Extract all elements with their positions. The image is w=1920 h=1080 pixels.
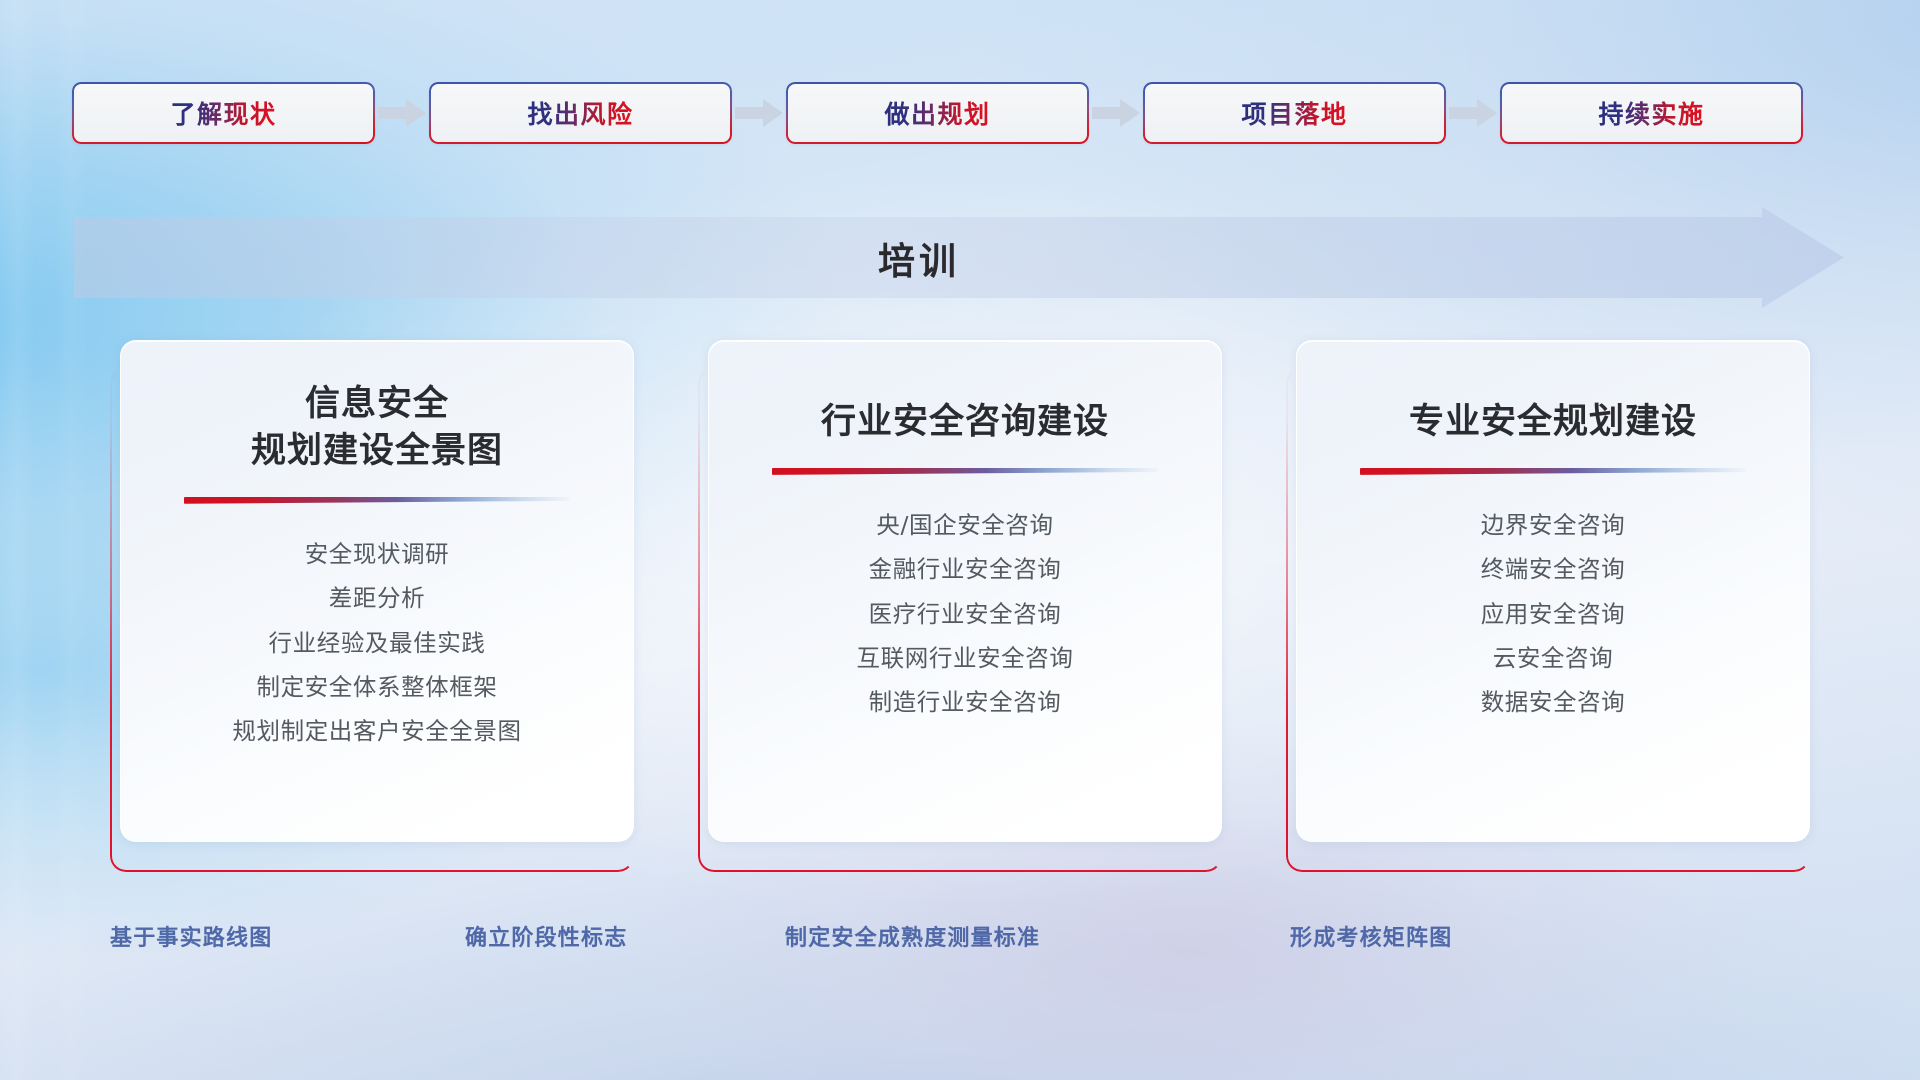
card-professional-planning-body: 专业安全规划建设 边界安全咨询 终端安全咨询 应用安全咨询 云安全咨询 数据安全… <box>1296 340 1810 842</box>
card-panorama-list: 安全现状调研 差距分析 行业经验及最佳实践 制定安全体系整体框架 规划制定出客户… <box>232 538 521 749</box>
list-item: 云安全咨询 <box>1493 642 1614 675</box>
process-step-5[interactable]: 持续实施 <box>1500 82 1803 144</box>
list-item: 金融行业安全咨询 <box>869 553 1062 586</box>
card-industry-consulting-list: 央/国企安全咨询 金融行业安全咨询 医疗行业安全咨询 互联网行业安全咨询 制造行… <box>857 509 1074 720</box>
list-item: 规划制定出客户安全全景图 <box>232 715 521 748</box>
list-item: 央/国企安全咨询 <box>876 509 1053 542</box>
process-step-4-label: 项目落地 <box>1241 95 1347 131</box>
arrow-right-icon <box>735 99 783 127</box>
list-item: 边界安全咨询 <box>1481 509 1626 542</box>
process-connector-1 <box>375 98 429 128</box>
process-step-3[interactable]: 做出规划 <box>786 82 1089 144</box>
footnote-row: 基于事实路线图 确立阶段性标志 制定安全成熟度测量标准 形成考核矩阵图 <box>0 920 1920 968</box>
process-step-5-label: 持续实施 <box>1598 95 1704 131</box>
footnote-4: 形成考核矩阵图 <box>1290 920 1452 952</box>
card-professional-planning-divider <box>1360 468 1746 475</box>
arrow-right-icon <box>1092 99 1140 127</box>
footnote-1: 基于事实路线图 <box>110 920 272 952</box>
process-step-2-label: 找出风险 <box>527 95 633 131</box>
list-item: 终端安全咨询 <box>1481 553 1626 586</box>
process-step-1[interactable]: 了解现状 <box>72 82 375 144</box>
card-row: 信息安全 规划建设全景图 安全现状调研 差距分析 行业经验及最佳实践 制定安全体… <box>110 340 1810 872</box>
process-step-1-label: 了解现状 <box>170 95 276 131</box>
slide-canvas: 了解现状 找出风险 做出规划 项目落地 <box>0 0 1920 1080</box>
arrow-right-icon <box>1449 99 1497 127</box>
training-band-label: 培训 <box>74 207 1764 308</box>
card-panorama-divider <box>184 497 570 504</box>
list-item: 制造行业安全咨询 <box>869 686 1062 719</box>
process-step-row: 了解现状 找出风险 做出规划 项目落地 <box>72 82 1848 144</box>
card-panorama-body: 信息安全 规划建设全景图 安全现状调研 差距分析 行业经验及最佳实践 制定安全体… <box>120 340 634 842</box>
card-industry-consulting-body: 行业安全咨询建设 央/国企安全咨询 金融行业安全咨询 医疗行业安全咨询 互联网行… <box>708 340 1222 842</box>
process-step-4[interactable]: 项目落地 <box>1143 82 1446 144</box>
card-professional-planning[interactable]: 专业安全规划建设 边界安全咨询 终端安全咨询 应用安全咨询 云安全咨询 数据安全… <box>1286 340 1810 872</box>
process-step-2[interactable]: 找出风险 <box>429 82 732 144</box>
process-connector-4 <box>1446 98 1500 128</box>
card-panorama[interactable]: 信息安全 规划建设全景图 安全现状调研 差距分析 行业经验及最佳实践 制定安全体… <box>110 340 634 872</box>
process-step-3-label: 做出规划 <box>884 95 990 131</box>
card-industry-consulting-divider <box>772 468 1158 475</box>
training-band: 培训 <box>74 207 1844 308</box>
list-item: 制定安全体系整体框架 <box>256 671 497 704</box>
list-item: 互联网行业安全咨询 <box>857 642 1074 675</box>
card-industry-consulting-title: 行业安全咨询建设 <box>821 399 1109 446</box>
arrow-right-icon <box>378 99 426 127</box>
footnote-3: 制定安全成熟度测量标准 <box>785 920 1040 952</box>
card-panorama-title: 信息安全 规划建设全景图 <box>251 381 503 475</box>
list-item: 安全现状调研 <box>305 538 450 571</box>
background-left-stripes <box>0 0 120 1080</box>
list-item: 数据安全咨询 <box>1481 686 1626 719</box>
list-item: 医疗行业安全咨询 <box>869 598 1062 631</box>
card-industry-consulting[interactable]: 行业安全咨询建设 央/国企安全咨询 金融行业安全咨询 医疗行业安全咨询 互联网行… <box>698 340 1222 872</box>
list-item: 应用安全咨询 <box>1481 598 1626 631</box>
card-professional-planning-list: 边界安全咨询 终端安全咨询 应用安全咨询 云安全咨询 数据安全咨询 <box>1481 509 1626 720</box>
list-item: 行业经验及最佳实践 <box>269 627 486 660</box>
footnote-2: 确立阶段性标志 <box>465 920 627 952</box>
process-connector-2 <box>732 98 786 128</box>
process-connector-3 <box>1089 98 1143 128</box>
list-item: 差距分析 <box>329 582 425 615</box>
card-professional-planning-title: 专业安全规划建设 <box>1409 399 1697 446</box>
